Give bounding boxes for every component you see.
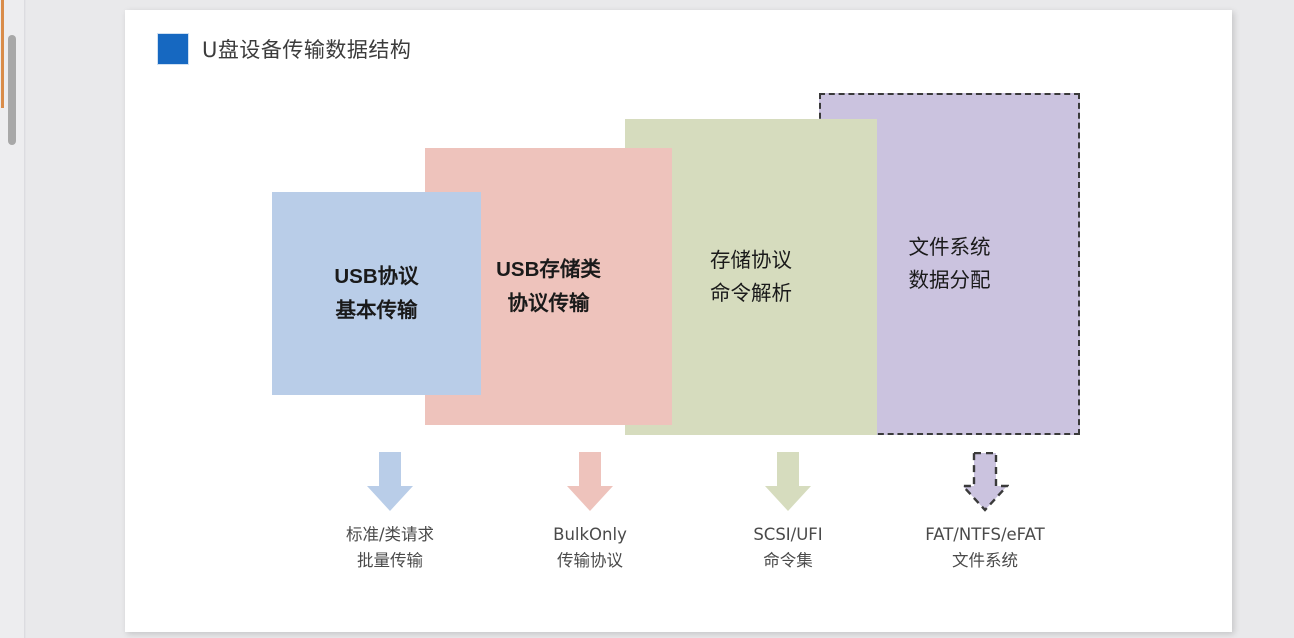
arrow-group-storage-protocol: SCSI/UFI 命令集 [703, 452, 873, 573]
arrow-caption-line1: BulkOnly [505, 522, 675, 548]
layer-label-line1: USB存储类 [496, 253, 601, 286]
arrow-caption-line1: 标准/类请求 [305, 522, 475, 548]
arrow-caption: BulkOnly 传输协议 [505, 522, 675, 573]
arrow-caption: SCSI/UFI 命令集 [703, 522, 873, 573]
vertical-scrollbar-track[interactable] [4, 0, 12, 638]
arrow-caption-line2: 批量传输 [305, 548, 475, 574]
vertical-scrollbar-thumb[interactable] [8, 35, 16, 145]
arrow-group-file-system: FAT/NTFS/eFAT 文件系统 [900, 452, 1070, 573]
layer-label-line2: 协议传输 [508, 287, 590, 320]
layer-box-usb-protocol[interactable]: USB协议 基本传输 [272, 192, 481, 395]
layer-label-line1: 存储协议 [710, 244, 792, 277]
diagram-stage: 文件系统 数据分配 存储协议 命令解析 USB存储类 协议传输 USB协议 基本… [125, 10, 1232, 632]
arrow-caption-line2: 文件系统 [900, 548, 1070, 574]
arrow-caption-line2: 命令集 [703, 548, 873, 574]
down-arrow-icon [566, 452, 614, 512]
app-window: U盘设备传输数据结构 文件系统 数据分配 存储协议 命令解析 USB存储类 协议… [0, 0, 1294, 638]
slide-canvas[interactable]: U盘设备传输数据结构 文件系统 数据分配 存储协议 命令解析 USB存储类 协议… [125, 10, 1232, 632]
arrow-caption: FAT/NTFS/eFAT 文件系统 [900, 522, 1070, 573]
down-arrow-icon [366, 452, 414, 512]
layer-label-line2: 基本传输 [336, 294, 418, 327]
layer-label-line2: 数据分配 [909, 264, 991, 297]
arrow-caption: 标准/类请求 批量传输 [305, 522, 475, 573]
panel-divider [25, 0, 26, 638]
arrow-caption-line2: 传输协议 [505, 548, 675, 574]
layer-label-line1: 文件系统 [909, 231, 991, 264]
layer-label-line2: 命令解析 [710, 277, 792, 310]
down-arrow-icon [961, 452, 1009, 512]
layer-label-line1: USB协议 [334, 260, 418, 293]
arrow-caption-line1: SCSI/UFI [703, 522, 873, 548]
arrow-caption-line1: FAT/NTFS/eFAT [900, 522, 1070, 548]
arrow-group-usb-protocol: 标准/类请求 批量传输 [305, 452, 475, 573]
down-arrow-icon [764, 452, 812, 512]
arrow-group-usb-storage-class: BulkOnly 传输协议 [505, 452, 675, 573]
